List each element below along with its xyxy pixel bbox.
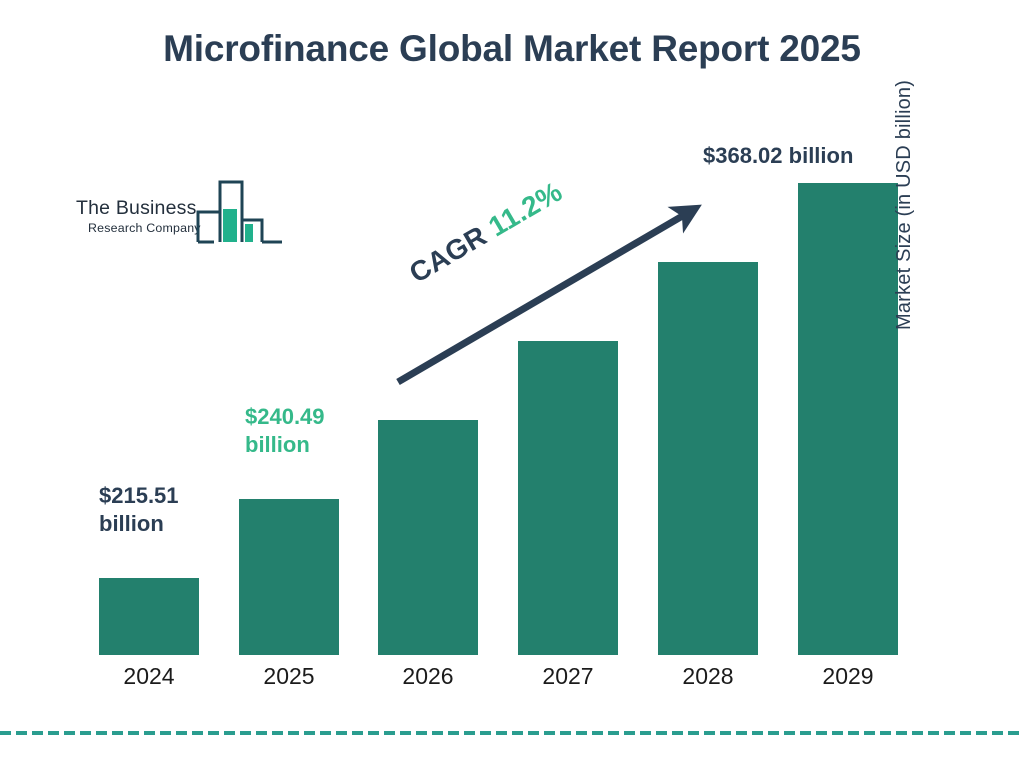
cagr-prefix: CAGR (404, 220, 492, 289)
x-tick-2028: 2028 (658, 663, 758, 690)
chart-canvas: Microfinance Global Market Report 2025 T… (0, 0, 1024, 768)
y-axis-title: Market Size (in USD billion) (893, 0, 916, 330)
x-tick-2025: 2025 (239, 663, 339, 690)
bar-2029 (798, 183, 898, 655)
bar-2027 (518, 341, 618, 655)
bar-2026 (378, 420, 478, 655)
cagr-value: 11.2% (483, 176, 567, 243)
bar-2025 (239, 499, 339, 655)
x-tick-2029: 2029 (798, 663, 898, 690)
x-tick-2024: 2024 (99, 663, 199, 690)
page-title: Microfinance Global Market Report 2025 (0, 28, 1024, 70)
value-callout-2025-line2: billion (245, 431, 375, 459)
footer-divider (0, 731, 1024, 735)
logo-text: The Business Research Company (76, 199, 212, 234)
cagr-label: CAGR 11.2% (404, 176, 568, 290)
value-callout-2024-line1: $215.51 (99, 482, 219, 510)
value-callout-2025-line1: $240.49 (245, 403, 375, 431)
x-tick-2027: 2027 (518, 663, 618, 690)
logo-line-1: The Business (76, 199, 212, 219)
value-callout-2024: $215.51 billion (99, 482, 219, 538)
company-logo: The Business Research Company (74, 176, 284, 256)
value-callout-2024-line2: billion (99, 510, 219, 538)
x-tick-2026: 2026 (378, 663, 478, 690)
bar-chart-logo-mark (196, 176, 284, 248)
logo-line-2: Research Company (88, 222, 212, 234)
bar-2028 (658, 262, 758, 655)
bar-2024 (99, 578, 199, 655)
value-callout-2025: $240.49 billion (245, 403, 375, 459)
